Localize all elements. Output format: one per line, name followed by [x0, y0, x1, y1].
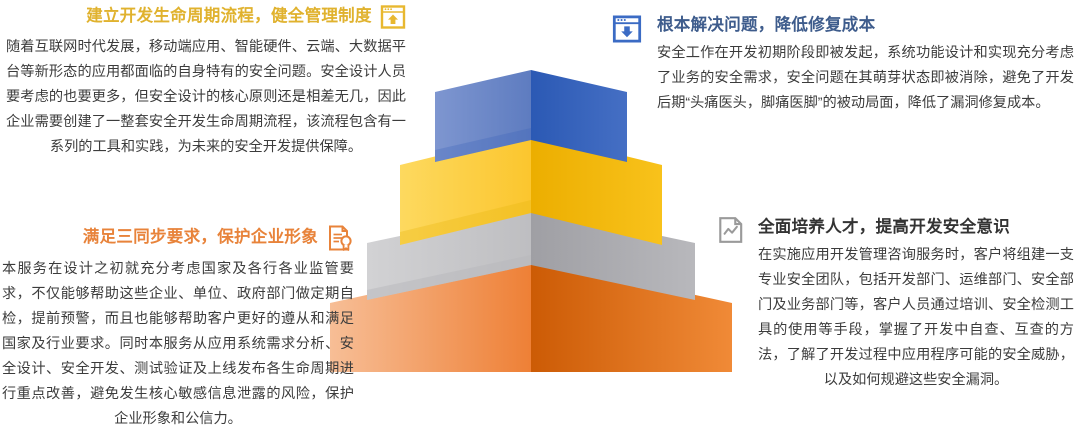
- quadrant-top-left-header: 建立开发生命周期流程，健全管理制度: [6, 4, 406, 30]
- infographic-canvas: 建立开发生命周期流程，健全管理制度 随着互联网时代发展，移动端应用、智能硬件、云…: [0, 0, 1080, 443]
- quadrant-top-right-title: 根本解决问题，降低修复成本: [657, 16, 875, 36]
- quadrant-bottom-left-header: 满足三同步要求，保护企业形象: [2, 224, 354, 252]
- pyramid-tier-gray: [367, 208, 695, 300]
- quadrant-top-left-body: 随着互联网时代发展，移动端应用、智能硬件、云端、大数据平台等新形态的应用都面临的…: [6, 35, 406, 160]
- pyramid-tier-blue: [435, 70, 627, 162]
- window-down-arrow-icon: [612, 14, 642, 44]
- quadrant-top-right-body: 安全工作在开发初期阶段即被发起，系统功能设计和实现充分考虑了业务的安全需求，安全…: [612, 41, 1074, 116]
- quadrant-bottom-right-title: 全面培养人才，提高开发安全意识: [758, 218, 1010, 238]
- pyramid-tier-orange: [330, 259, 732, 372]
- quadrant-bottom-right: 全面培养人才，提高开发安全意识 在实施应用开发管理咨询服务时，客户将组建一支专业…: [718, 218, 1074, 393]
- quadrant-bottom-left-body: 本服务在设计之初就充分考虑国家及各行各业监管要求，不仅能够帮助这些企业、单位、政…: [2, 257, 354, 432]
- pyramid-tier-yellow: [400, 133, 662, 245]
- quadrant-top-left: 建立开发生命周期流程，健全管理制度 随着互联网时代发展，移动端应用、智能硬件、云…: [6, 4, 406, 160]
- quadrant-top-right: 根本解决问题，降低修复成本 安全工作在开发初期阶段即被发起，系统功能设计和实现充…: [612, 16, 1074, 116]
- quadrant-bottom-left: 满足三同步要求，保护企业形象 本服务在设计之初就充分考虑国家及各行各业监管要求，…: [2, 224, 354, 432]
- window-up-arrow-icon: [380, 4, 406, 30]
- quadrant-bottom-right-header: 全面培养人才，提高开发安全意识: [718, 218, 1074, 238]
- certificate-document-icon: [326, 224, 354, 252]
- quadrant-top-right-header: 根本解决问题，降低修复成本: [612, 16, 1074, 36]
- chart-document-icon: [716, 215, 746, 245]
- quadrant-bottom-left-title: 满足三同步要求，保护企业形象: [83, 228, 318, 248]
- quadrant-top-left-title: 建立开发生命周期流程，健全管理制度: [86, 7, 372, 27]
- quadrant-bottom-right-body: 在实施应用开发管理咨询服务时，客户将组建一支专业安全团队，包括开发部门、运维部门…: [718, 243, 1074, 393]
